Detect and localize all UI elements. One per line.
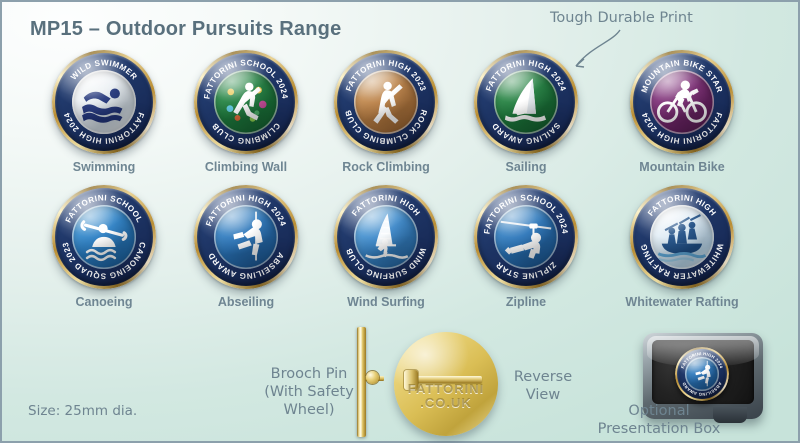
- badge-caption: Mountain Bike: [602, 160, 762, 174]
- badge[interactable]: FATTORINI SCHOOL 2024CLIMBING CLUB: [194, 50, 298, 154]
- badge-caption: Swimming: [24, 160, 184, 174]
- badge[interactable]: FATTORINI SCHOOL 2024ZIPLINE STAR: [474, 185, 578, 289]
- badge-caption: Abseiling: [166, 295, 326, 309]
- badge-caption: Wind Surfing: [306, 295, 466, 309]
- badge[interactable]: MOUNTAIN BIKE STARFATTORINI HIGH 2024: [630, 50, 734, 154]
- badge-centre: [650, 205, 714, 269]
- reverse-view-label-line1: Reverse: [508, 368, 578, 386]
- badge[interactable]: FATTORINI HIGHWHITEWATER RAFTING: [630, 185, 734, 289]
- product-sheet: MP15 – Outdoor Pursuits Range Tough Dura…: [0, 0, 800, 443]
- badge-centre: [72, 70, 136, 134]
- reverse-view-label-line2: View: [508, 386, 578, 404]
- badge-centre: [685, 357, 718, 390]
- brooch-pin-bar: [357, 327, 366, 437]
- badge-centre: [650, 70, 714, 134]
- badge-centre: [354, 205, 418, 269]
- badge-item-whitewater-rafting[interactable]: FATTORINI HIGHWHITEWATER RAFTINGWhitewat…: [602, 185, 762, 309]
- badge-caption: Whitewater Rafting: [602, 295, 762, 309]
- badge-item-swimming[interactable]: WILD SWIMMERFATTORINI HIGH 2024Swimming: [24, 50, 184, 174]
- badge[interactable]: FATTORINI HIGHWIND SURFING CLUB: [334, 185, 438, 289]
- presentation-box-badge: FATTORINI HIGH 2024ABSEILING AWARD: [675, 347, 729, 401]
- badge-centre: [214, 70, 278, 134]
- badge-caption: Rock Climbing: [306, 160, 466, 174]
- badge[interactable]: FATTORINI HIGH 2024ABSEILING AWARD: [675, 347, 729, 401]
- badge-item-wind-surfing[interactable]: FATTORINI HIGHWIND SURFING CLUBWind Surf…: [306, 185, 466, 309]
- badge-caption: Climbing Wall: [166, 160, 326, 174]
- badge[interactable]: FATTORINI HIGH 2024ABSEILING AWARD: [194, 185, 298, 289]
- brooch-pin-label-line1: Brooch Pin: [252, 365, 366, 383]
- brooch-pin-label: Brooch Pin (With Safety Wheel): [252, 365, 366, 419]
- badge-caption: Canoeing: [24, 295, 184, 309]
- badge-item-mountain-bike[interactable]: MOUNTAIN BIKE STARFATTORINI HIGH 2024Mou…: [602, 50, 762, 174]
- badge[interactable]: FATTORINI SCHOOLCANOEING SQUAD 2023: [52, 185, 156, 289]
- safety-wheel-icon: [366, 371, 379, 384]
- badge-row-2: FATTORINI SCHOOLCANOEING SQUAD 2023Canoe…: [2, 185, 800, 315]
- size-note: Size: 25mm dia.: [28, 403, 137, 420]
- reverse-view-label: Reverse View: [508, 368, 578, 404]
- badge-centre: [72, 205, 136, 269]
- badge-caption: Zipline: [446, 295, 606, 309]
- badge-item-abseiling[interactable]: FATTORINI HIGH 2024ABSEILING AWARDAbseil…: [166, 185, 326, 309]
- badge[interactable]: WILD SWIMMERFATTORINI HIGH 2024: [52, 50, 156, 154]
- badge[interactable]: FATTORINI HIGH 2024SAILING AWARD: [474, 50, 578, 154]
- badge-centre: [214, 205, 278, 269]
- badge[interactable]: FATTORINI HIGH 2023ROCK CLIMBING CLUB: [334, 50, 438, 154]
- badge-item-zipline[interactable]: FATTORINI SCHOOL 2024ZIPLINE STARZipline: [446, 185, 606, 309]
- brooch-pin-label-line2: (With Safety Wheel): [252, 383, 366, 419]
- presentation-box-label-line1: Optional: [594, 402, 724, 420]
- badge-row-1: WILD SWIMMERFATTORINI HIGH 2024Swimming …: [2, 50, 800, 180]
- reverse-brand-text: FATTORINI .CO.UK: [394, 382, 498, 409]
- badge-item-sailing[interactable]: FATTORINI HIGH 2024SAILING AWARDSailing: [446, 50, 606, 174]
- reverse-brand-line2: .CO.UK: [394, 396, 498, 410]
- badge-centre: [354, 70, 418, 134]
- badge-caption: Sailing: [446, 160, 606, 174]
- badge-centre: [494, 205, 558, 269]
- badge-centre: [494, 70, 558, 134]
- presentation-box-label: Optional Presentation Box: [594, 402, 724, 438]
- brooch-pin-illustration: [354, 327, 384, 437]
- presentation-box-label-line2: Presentation Box: [594, 420, 724, 438]
- reverse-brand-line1: FATTORINI: [394, 382, 498, 396]
- reverse-view-disc: FATTORINI .CO.UK: [394, 332, 498, 436]
- badge-item-rock-climbing[interactable]: FATTORINI HIGH 2023ROCK CLIMBING CLUBRoc…: [306, 50, 466, 174]
- badge-item-climbing-wall[interactable]: FATTORINI SCHOOL 2024CLIMBING CLUBClimbi…: [166, 50, 326, 174]
- badge-item-canoeing[interactable]: FATTORINI SCHOOLCANOEING SQUAD 2023Canoe…: [24, 185, 184, 309]
- page-title: MP15 – Outdoor Pursuits Range: [30, 18, 341, 41]
